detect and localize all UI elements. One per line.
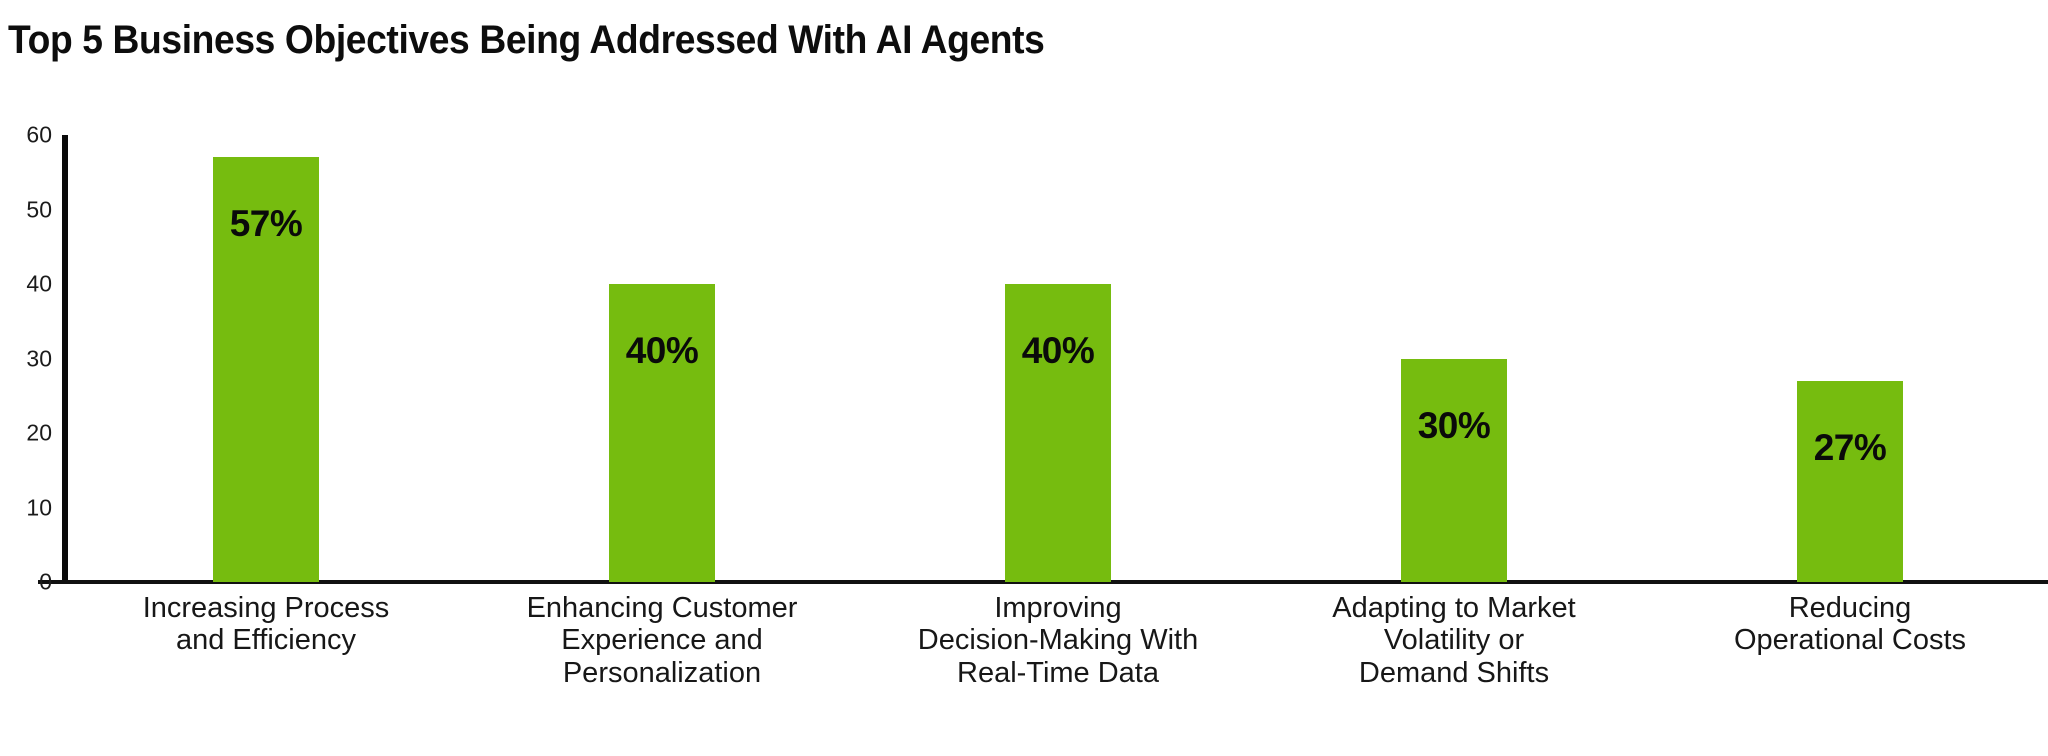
bars-layer: 57%40%40%30%27%: [68, 130, 2048, 582]
x-axis-label: Enhancing Customer Experience and Person…: [464, 592, 860, 689]
y-axis-tick-60: 60: [2, 122, 52, 149]
x-axis-label: Increasing Process and Efficiency: [68, 592, 464, 657]
bar-value-label: 40%: [609, 330, 715, 372]
bar-chart: Top 5 Business Objectives Being Addresse…: [0, 0, 2048, 756]
bar-group: 40%: [464, 130, 860, 582]
y-axis-tick-0: 0: [2, 569, 52, 596]
bar-group: 40%: [860, 130, 1256, 582]
bar-value-label: 40%: [1005, 330, 1111, 372]
x-axis-label: Reducing Operational Costs: [1652, 592, 2048, 657]
y-axis-tick-20: 20: [2, 420, 52, 447]
bar[interactable]: 27%: [1797, 381, 1903, 582]
y-axis-tick-30: 30: [2, 345, 52, 372]
bar-value-label: 27%: [1797, 427, 1903, 469]
bar-value-label: 30%: [1401, 405, 1507, 447]
bar-group: 57%: [68, 130, 464, 582]
bar[interactable]: 30%: [1401, 359, 1507, 583]
bar-group: 27%: [1652, 130, 2048, 582]
y-axis-tick-10: 10: [2, 494, 52, 521]
bar-group: 30%: [1256, 130, 1652, 582]
bar-value-label: 57%: [213, 203, 319, 245]
plot-area: 0102030405060 57%40%40%30%27%: [0, 130, 2048, 585]
bar[interactable]: 40%: [609, 284, 715, 582]
x-axis-label: Adapting to Market Volatility or Demand …: [1256, 592, 1652, 689]
y-axis-tick-labels: 0102030405060: [0, 130, 52, 585]
x-axis-category-labels: Increasing Process and EfficiencyEnhanci…: [68, 592, 2048, 752]
bar[interactable]: 40%: [1005, 284, 1111, 582]
y-axis-tick-50: 50: [2, 196, 52, 223]
x-axis-label: Improving Decision-Making With Real-Time…: [860, 592, 1256, 689]
bar[interactable]: 57%: [213, 157, 319, 582]
chart-title: Top 5 Business Objectives Being Addresse…: [8, 18, 1044, 63]
y-axis-tick-40: 40: [2, 271, 52, 298]
